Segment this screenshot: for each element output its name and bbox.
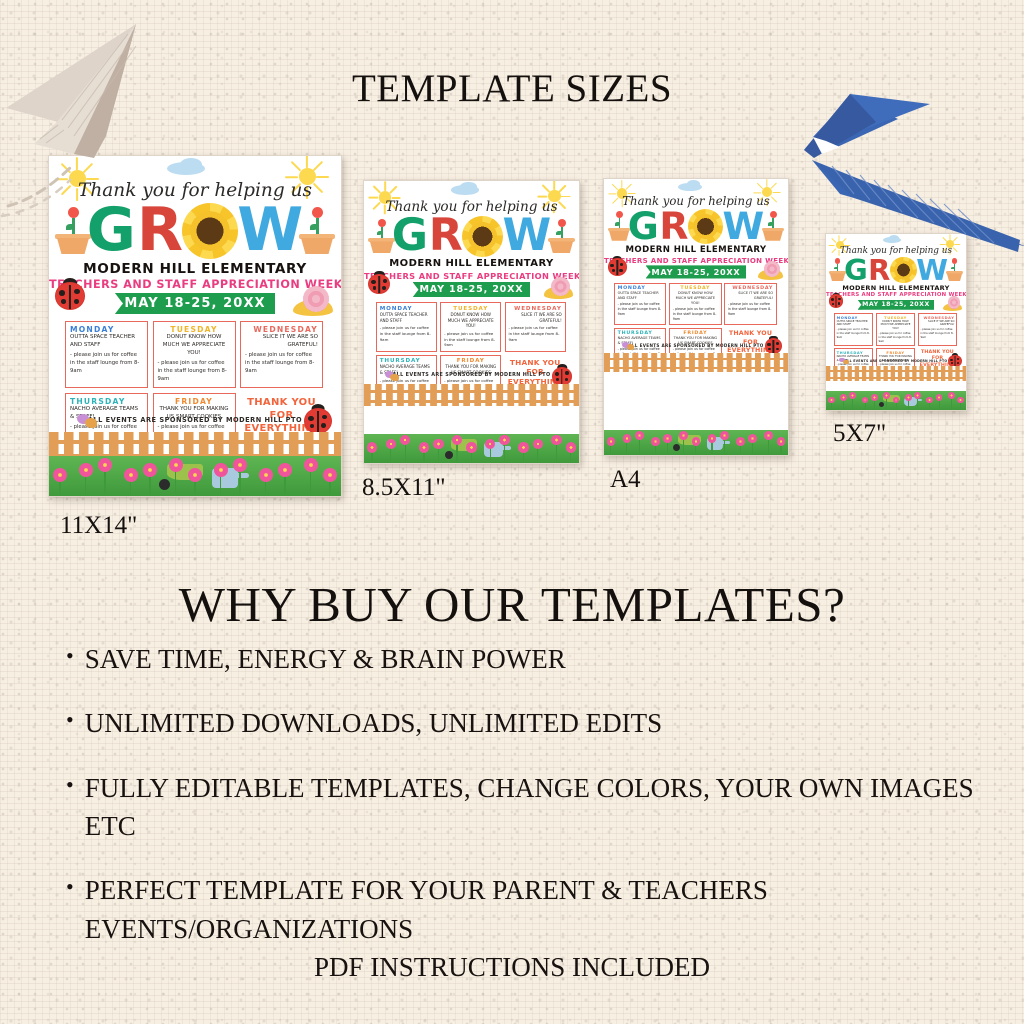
butterfly-icon bbox=[385, 371, 401, 383]
flower-icon bbox=[98, 458, 112, 472]
poster-date-banner: MAY 18-25, 20XX bbox=[858, 300, 935, 310]
flower-icon bbox=[169, 458, 183, 472]
day-card-tuesday[interactable]: TUESDAY DONUT KNOW HOW MUCH WE APPRECIAT… bbox=[153, 321, 236, 388]
snail-icon bbox=[293, 286, 335, 316]
grow-wordmark: G R W bbox=[364, 215, 579, 258]
list-item: • UNLIMITED DOWNLOADS, UNLIMITED EDITS bbox=[66, 704, 976, 742]
snail-icon bbox=[758, 261, 784, 280]
flower-icon bbox=[679, 431, 688, 440]
poster-school-name: MODERN HILL ELEMENTARY bbox=[604, 245, 788, 255]
paper-plane-blue-icon bbox=[780, 42, 1024, 257]
benefit-text: PERFECT TEMPLATE FOR YOUR PARENT & TEACH… bbox=[85, 871, 976, 948]
day-description: SLICE IT WE ARE SO GRATEFUL! bbox=[509, 312, 562, 324]
flower-icon bbox=[849, 392, 856, 399]
grow-wordmark: G R W bbox=[826, 256, 966, 284]
day-card-wednesday[interactable]: WEDNESDAY SLICE IT WE ARE SO GRATEFUL! -… bbox=[240, 321, 323, 388]
grow-letter-r: R bbox=[659, 209, 688, 244]
poster-preview-8-5x11[interactable]: Thank you for helping us G R bbox=[363, 180, 580, 464]
snail-icon bbox=[544, 277, 575, 299]
ladybug-icon bbox=[765, 338, 783, 354]
day-coffee-note: - please join us for coffee in the staff… bbox=[444, 331, 497, 349]
poster-date-banner: MAY 18-25, 20XX bbox=[413, 282, 531, 297]
flower-icon bbox=[663, 434, 672, 443]
flower-icon bbox=[635, 431, 644, 440]
ladybug-icon bbox=[55, 282, 85, 310]
grow-letter-g: G bbox=[628, 209, 659, 244]
grow-letter-w: W bbox=[237, 203, 303, 258]
bullet-dot-icon: • bbox=[66, 704, 74, 736]
list-item: • FULLY EDITABLE TEMPLATES, CHANGE COLOR… bbox=[66, 769, 976, 846]
day-description: DONUT KNOW HOW MUCH WE APPRECIATE YOU! bbox=[673, 291, 718, 306]
grow-letter-g: G bbox=[392, 216, 428, 257]
butterfly-icon bbox=[839, 358, 850, 366]
day-coffee-note: - please join us for coffee in the staff… bbox=[728, 302, 773, 317]
flower-icon bbox=[905, 394, 912, 401]
flower-icon bbox=[533, 439, 543, 449]
day-card-tuesday[interactable]: TUESDAY DONUT KNOW HOW MUCH WE APPRECIAT… bbox=[876, 313, 916, 346]
flower-icon bbox=[551, 435, 561, 445]
day-coffee-note: - please join us for coffee in the staff… bbox=[158, 360, 231, 384]
day-description: SLICE IT WE ARE SO GRATEFUL! bbox=[245, 334, 318, 350]
day-card-monday[interactable]: MONDAY OUTTA SPACE TEACHER AND STAFF - p… bbox=[834, 313, 874, 346]
flower-icon bbox=[124, 468, 138, 482]
size-label-11x14: 11X14" bbox=[60, 512, 137, 540]
flower-icon bbox=[433, 439, 443, 449]
day-description: DONUT KNOW HOW MUCH WE APPRECIATE YOU! bbox=[444, 312, 497, 330]
poster-school-name: MODERN HILL ELEMENTARY bbox=[364, 258, 579, 269]
benefit-text: FULLY EDITABLE TEMPLATES, CHANGE COLORS,… bbox=[85, 769, 976, 846]
grow-wordmark: G R W bbox=[604, 208, 788, 245]
day-coffee-note: - please join us for coffee in the staff… bbox=[509, 325, 562, 343]
flower-icon bbox=[143, 463, 157, 477]
day-card-tuesday[interactable]: TUESDAY DONUT KNOW HOW MUCH WE APPRECIAT… bbox=[440, 302, 501, 351]
day-description: SLICE IT WE ARE SO GRATEFUL! bbox=[920, 320, 954, 328]
flower-icon bbox=[386, 439, 396, 449]
flower-icon bbox=[499, 435, 509, 445]
day-name: THURSDAY bbox=[70, 397, 143, 406]
day-name: WEDNESDAY bbox=[245, 325, 318, 334]
flower-icon bbox=[736, 437, 745, 446]
benefit-text: UNLIMITED DOWNLOADS, UNLIMITED EDITS bbox=[85, 704, 976, 742]
poster-preview-5x7[interactable]: Thank you for helping us G R bbox=[825, 233, 967, 411]
day-name: TUESDAY bbox=[158, 325, 231, 334]
size-label-8-5x11: 8.5X11" bbox=[362, 474, 446, 502]
day-coffee-note: - please join us for coffee in the staff… bbox=[245, 352, 318, 376]
flower-icon bbox=[259, 468, 273, 482]
day-coffee-note: - please join us for coffee in the staff… bbox=[70, 352, 143, 376]
poster-school-name: MODERN HILL ELEMENTARY bbox=[49, 261, 341, 277]
benefits-list: • SAVE TIME, ENERGY & BRAIN POWER • UNLI… bbox=[66, 640, 976, 974]
flower-icon bbox=[188, 468, 202, 482]
list-item: • PERFECT TEMPLATE FOR YOUR PARENT & TEA… bbox=[66, 871, 976, 948]
bullet-dot-icon: • bbox=[66, 871, 74, 903]
sunflower-icon bbox=[890, 257, 917, 284]
day-coffee-note: - please join us for coffee in the staff… bbox=[673, 307, 718, 322]
day-coffee-note: - please join us for coffee in the staff… bbox=[837, 328, 871, 339]
benefit-text: SAVE TIME, ENERGY & BRAIN POWER bbox=[85, 640, 976, 678]
day-name: MONDAY bbox=[70, 325, 143, 334]
butterfly-icon bbox=[77, 414, 99, 430]
flower-icon bbox=[419, 442, 429, 452]
cloud-icon bbox=[460, 182, 476, 192]
poster-school-name: MODERN HILL ELEMENTARY bbox=[826, 284, 966, 292]
snail-icon bbox=[943, 296, 963, 310]
flower-icon bbox=[720, 431, 729, 440]
day-card-wednesday[interactable]: WEDNESDAY SLICE IT WE ARE SO GRATEFUL! -… bbox=[724, 283, 776, 325]
ladybug-icon bbox=[552, 367, 573, 386]
flower-icon bbox=[53, 468, 67, 482]
flower-icon bbox=[840, 394, 847, 401]
day-card-tuesday[interactable]: TUESDAY DONUT KNOW HOW MUCH WE APPRECIAT… bbox=[669, 283, 721, 325]
day-card-monday[interactable]: MONDAY OUTTA SPACE TEACHER AND STAFF - p… bbox=[376, 302, 437, 351]
flower-icon bbox=[764, 431, 773, 440]
ladybug-icon bbox=[368, 274, 390, 294]
flower-icon bbox=[948, 392, 955, 399]
section-title-why-buy: WHY BUY OUR TEMPLATES? bbox=[0, 576, 1024, 633]
ladybug-icon bbox=[304, 408, 332, 434]
day-card-monday[interactable]: MONDAY OUTTA SPACE TEACHER AND STAFF - p… bbox=[614, 283, 666, 325]
day-description: OUTTA SPACE TEACHER AND STAFF bbox=[837, 320, 871, 328]
sunflower-icon bbox=[688, 209, 723, 244]
day-card-monday[interactable]: MONDAY OUTTA SPACE TEACHER AND STAFF - p… bbox=[65, 321, 148, 388]
day-description: OUTTA SPACE TEACHER AND STAFF bbox=[618, 291, 663, 301]
flower-icon bbox=[828, 397, 835, 404]
list-item: • SAVE TIME, ENERGY & BRAIN POWER bbox=[66, 640, 976, 678]
poster-date-banner: MAY 18-25, 20XX bbox=[115, 293, 275, 314]
day-name: WEDNESDAY bbox=[509, 306, 562, 312]
flower-icon bbox=[79, 463, 93, 477]
butterfly-icon bbox=[622, 342, 636, 352]
flower-icon bbox=[214, 463, 228, 477]
poster-preview-a4[interactable]: Thank you for helping us G R bbox=[603, 178, 789, 456]
bullet-dot-icon: • bbox=[66, 769, 74, 801]
flower-icon bbox=[651, 437, 660, 446]
ladybug-icon bbox=[829, 294, 843, 307]
sunflower-icon bbox=[462, 216, 503, 257]
dashed-flight-trail-icon bbox=[0, 150, 120, 220]
pdf-instructions-note: PDF INSTRUCTIONS INCLUDED bbox=[0, 952, 1024, 983]
ladybug-icon bbox=[608, 258, 627, 275]
grow-letter-r: R bbox=[137, 203, 183, 258]
day-description: DONUT KNOW HOW MUCH WE APPRECIATE YOU! bbox=[879, 320, 913, 331]
flower-icon bbox=[367, 442, 377, 452]
grow-letter-r: R bbox=[868, 257, 890, 283]
day-card-wednesday[interactable]: WEDNESDAY SLICE IT WE ARE SO GRATEFUL! -… bbox=[918, 313, 958, 346]
size-label-5x7: 5X7" bbox=[833, 420, 886, 448]
day-description: OUTTA SPACE TEACHER AND STAFF bbox=[380, 312, 433, 324]
size-label-a4: A4 bbox=[610, 466, 641, 494]
flower-icon bbox=[883, 392, 890, 399]
flower-icon bbox=[466, 442, 476, 452]
grow-letter-g: G bbox=[844, 257, 868, 283]
ladybug-icon bbox=[948, 355, 961, 367]
day-coffee-note: - please join us for coffee in the staff… bbox=[879, 332, 913, 343]
grow-letter-w: W bbox=[916, 257, 948, 283]
day-description: DONUT KNOW HOW MUCH WE APPRECIATE YOU! bbox=[158, 334, 231, 358]
day-coffee-note: - please join us for coffee in the staff… bbox=[380, 325, 433, 343]
day-name: FRIDAY bbox=[158, 397, 231, 406]
flower-icon bbox=[914, 392, 921, 399]
flower-icon bbox=[278, 463, 292, 477]
grow-letter-r: R bbox=[429, 216, 463, 257]
day-coffee-note: - please join us for coffee in the staff… bbox=[618, 302, 663, 317]
flower-icon bbox=[566, 442, 576, 452]
day-card-wednesday[interactable]: WEDNESDAY SLICE IT WE ARE SO GRATEFUL! -… bbox=[505, 302, 566, 351]
flower-icon bbox=[304, 458, 318, 472]
poster-date-banner: MAY 18-25, 20XX bbox=[646, 265, 747, 278]
grow-letter-w: W bbox=[503, 216, 552, 257]
flower-icon bbox=[233, 458, 247, 472]
day-coffee-note: - please join us for coffee in the staff… bbox=[920, 328, 954, 339]
day-description: OUTTA SPACE TEACHER AND STAFF bbox=[70, 334, 143, 350]
day-description: SLICE IT WE ARE SO GRATEFUL! bbox=[728, 291, 773, 301]
day-name: WEDNESDAY bbox=[920, 316, 954, 320]
flower-icon bbox=[871, 394, 878, 401]
flower-icon bbox=[518, 442, 528, 452]
grow-letter-w: W bbox=[723, 209, 765, 244]
sunflower-icon bbox=[182, 203, 238, 259]
bullet-dot-icon: • bbox=[66, 640, 74, 672]
flower-icon bbox=[323, 468, 337, 482]
